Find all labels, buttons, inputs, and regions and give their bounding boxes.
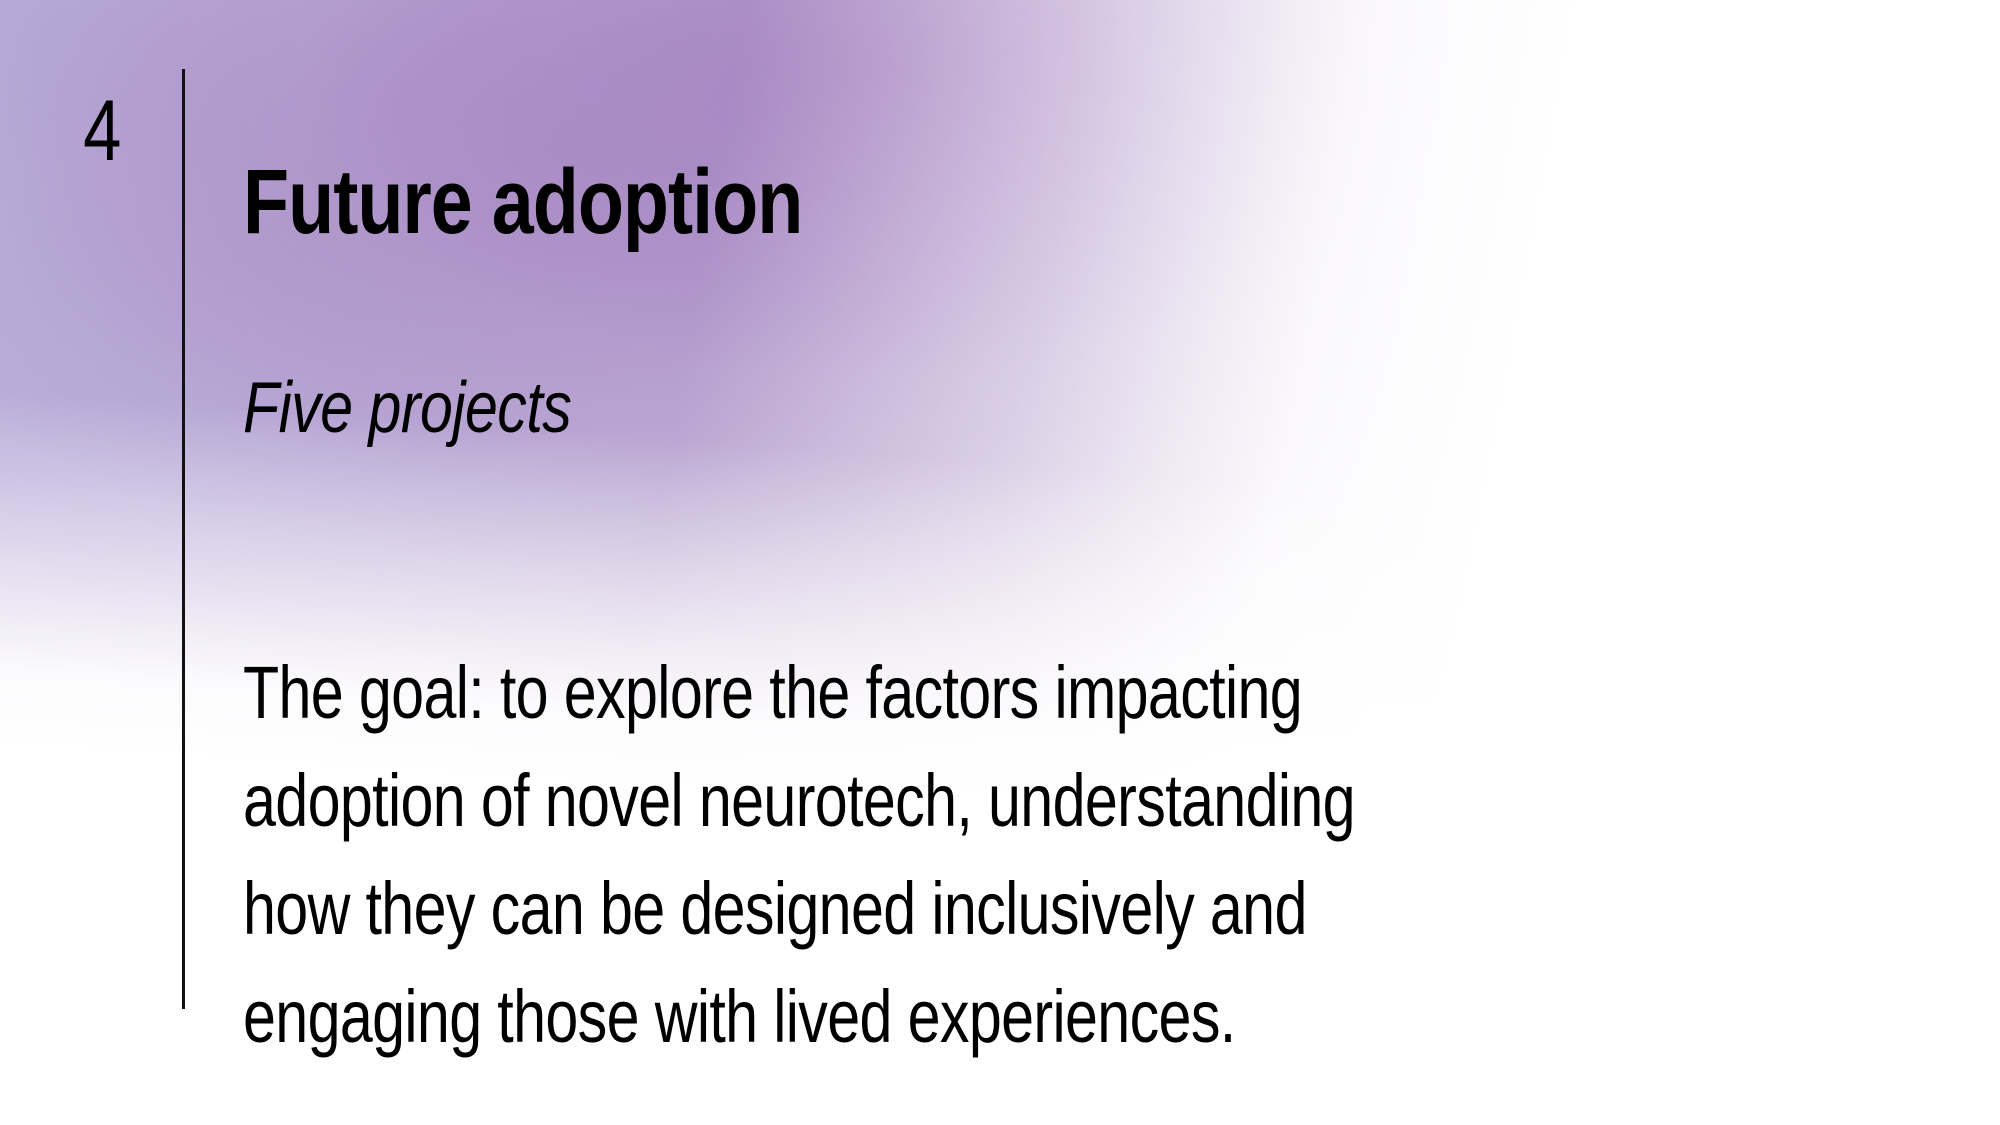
section-number: 4 <box>62 88 142 174</box>
slide: 4 Future adoption Five projects The goal… <box>0 0 2000 1125</box>
slide-body-text: The goal: to explore the factors impacti… <box>243 639 1651 1071</box>
body-line: adoption of novel neurotech, understandi… <box>243 747 1651 855</box>
body-line: The goal: to explore the factors impacti… <box>243 639 1651 747</box>
body-line: how they can be designed inclusively and <box>243 855 1651 963</box>
slide-subtitle: Five projects <box>243 370 571 448</box>
slide-content: 4 Future adoption Five projects The goal… <box>0 0 2000 1125</box>
vertical-divider-rule <box>182 69 185 1009</box>
body-line: engaging those with lived experiences. <box>243 963 1651 1071</box>
slide-title: Future adoption <box>243 154 802 252</box>
